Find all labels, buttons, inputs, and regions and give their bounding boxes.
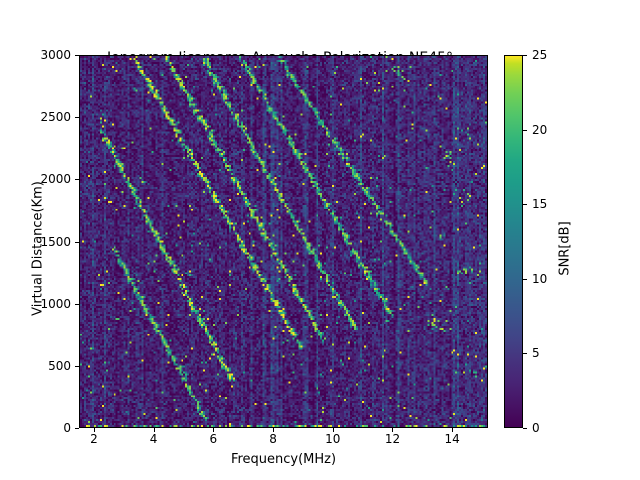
colorbar-tick-label: 0 [532, 422, 540, 434]
colorbar-tick-mark [523, 428, 527, 429]
y-tick-label: 2500 [40, 111, 71, 123]
colorbar-tick-mark [523, 130, 527, 131]
x-tick-label: 10 [325, 433, 340, 445]
y-tick-mark [75, 304, 79, 305]
colorbar-label: SNR[dB] [558, 189, 573, 309]
ionogram-heatmap-image [80, 56, 487, 427]
y-tick-mark [75, 428, 79, 429]
colorbar-tick-mark [523, 353, 527, 354]
y-tick-mark [75, 179, 79, 180]
x-tick-label: 12 [385, 433, 400, 445]
colorbar-tick-mark [523, 204, 527, 205]
ionogram-figure: Ionogram Jicamarca-Ayacucho Polarization… [0, 0, 640, 480]
colorbar-tick-label: 5 [532, 347, 540, 359]
x-tick-mark [94, 428, 95, 432]
y-tick-label: 500 [48, 360, 71, 372]
colorbar-tick-mark [523, 55, 527, 56]
y-tick-mark [75, 242, 79, 243]
x-axis-label: Frequency(MHz) [79, 452, 488, 467]
y-tick-label: 0 [63, 422, 71, 434]
x-tick-label: 8 [269, 433, 277, 445]
x-tick-label: 6 [210, 433, 218, 445]
x-tick-mark [213, 428, 214, 432]
x-tick-label: 4 [150, 433, 158, 445]
colorbar-tick-label: 15 [532, 198, 547, 210]
colorbar-tick-label: 25 [532, 49, 547, 61]
colorbar-tick-label: 20 [532, 124, 547, 136]
x-tick-label: 2 [90, 433, 98, 445]
x-tick-mark [273, 428, 274, 432]
x-tick-mark [154, 428, 155, 432]
y-tick-label: 3000 [40, 49, 71, 61]
x-tick-mark [452, 428, 453, 432]
y-tick-mark [75, 55, 79, 56]
colorbar-tick-mark [523, 279, 527, 280]
y-tick-mark [75, 366, 79, 367]
colorbar-tick-label: 10 [532, 273, 547, 285]
x-tick-label: 14 [445, 433, 460, 445]
y-axis-label: Virtual Distance(Km) [31, 149, 46, 349]
y-tick-mark [75, 117, 79, 118]
x-tick-mark [333, 428, 334, 432]
colorbar [504, 55, 523, 428]
x-tick-mark [392, 428, 393, 432]
heatmap-axes [79, 55, 488, 428]
